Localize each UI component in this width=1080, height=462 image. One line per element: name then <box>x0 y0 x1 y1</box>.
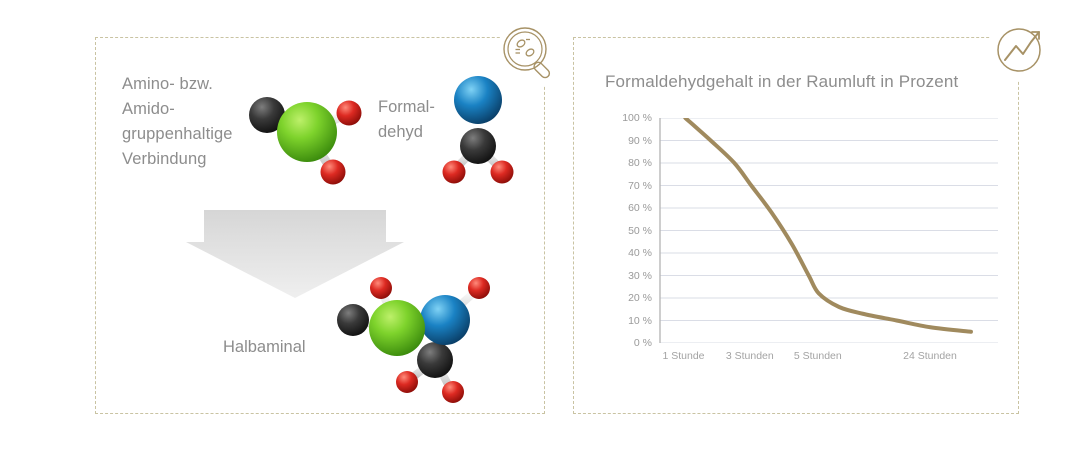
magnifier-molecule-icon <box>500 24 562 86</box>
y-tick: 50 % <box>606 225 652 237</box>
halbaminal-molecule <box>325 268 505 403</box>
y-tick: 10 % <box>606 315 652 327</box>
formaldehyde-molecule <box>432 68 524 190</box>
y-tick: 30 % <box>606 270 652 282</box>
chart-title: Formaldehydgehalt in der Raumluft in Pro… <box>605 72 958 92</box>
halbaminal-label: Halbaminal <box>223 338 306 357</box>
amino-compound-molecule <box>237 80 377 195</box>
formaldehyd-label-line-2: dehyd <box>378 120 435 145</box>
x-tick: 1 Stunde <box>662 350 704 362</box>
y-tick: 0 % <box>606 337 652 349</box>
y-axis-ticks: 100 % 90 % 80 % 70 % 60 % 50 % 40 % 30 %… <box>600 118 652 343</box>
formaldehyd-label: Formal- dehyd <box>378 95 435 145</box>
y-tick: 20 % <box>606 292 652 304</box>
y-tick: 80 % <box>606 157 652 169</box>
x-tick: 24 Stunden <box>903 350 957 362</box>
formaldehyd-label-line-1: Formal- <box>378 95 435 120</box>
chart-plot-svg <box>658 118 998 343</box>
y-tick: 70 % <box>606 180 652 192</box>
formaldehyde-decay-curve <box>685 118 971 332</box>
trend-chart-circle-icon <box>990 18 1052 80</box>
x-tick: 3 Stunden <box>726 350 774 362</box>
x-tick: 5 Stunden <box>794 350 842 362</box>
formaldehyde-decay-chart: 100 % 90 % 80 % 70 % 60 % 50 % 40 % 30 %… <box>600 118 1000 380</box>
y-tick: 40 % <box>606 247 652 259</box>
infographic-stage: Amino- bzw. Amido- gruppenhaltige Verbin… <box>0 0 1080 462</box>
y-tick: 100 % <box>606 112 652 124</box>
y-tick: 90 % <box>606 135 652 147</box>
chart-gridlines <box>660 118 998 343</box>
x-axis-ticks: 1 Stunde 3 Stunden 5 Stunden 24 Stunden <box>658 350 998 370</box>
y-tick: 60 % <box>606 202 652 214</box>
